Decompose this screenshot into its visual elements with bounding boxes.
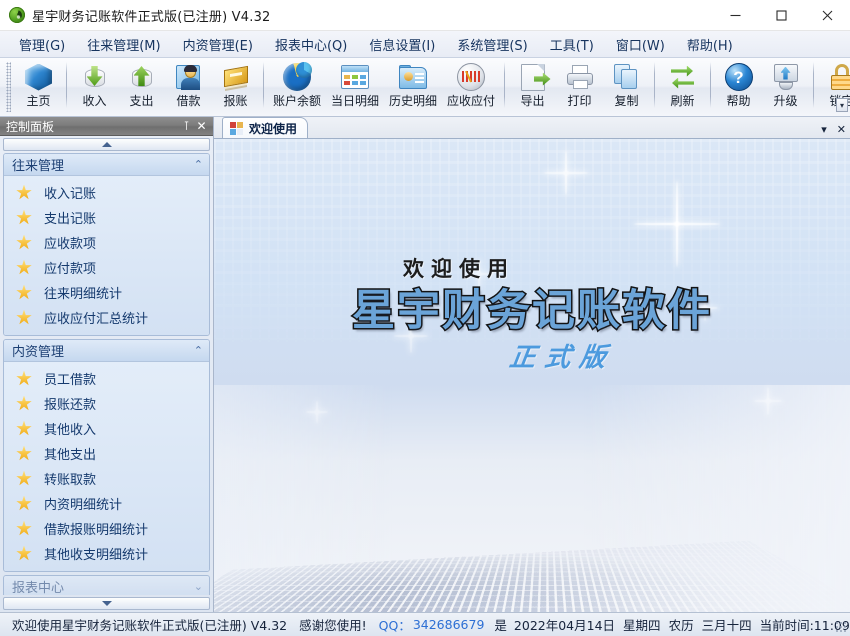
toolbar-group-refresh: 刷新	[659, 58, 706, 114]
toolbar-separator	[66, 62, 67, 108]
toolbar-group-help: ? 帮助 升级	[715, 58, 809, 114]
sidebar-item-label: 其他收支明细统计	[44, 544, 148, 563]
control-panel-title: 控制面板	[6, 118, 179, 135]
star-icon	[16, 421, 32, 437]
app-logo-icon	[9, 7, 25, 23]
sidebar-item-reimburse-repay[interactable]: 报账还款	[4, 391, 209, 416]
home-cube-icon	[23, 61, 55, 93]
status-weekday-text: 星期四	[619, 615, 665, 634]
star-icon	[16, 235, 32, 251]
sidebar-group-body: 员工借款 报账还款 其他收入 其他支出	[4, 362, 209, 571]
sidebar-group-title: 报表中心	[12, 577, 194, 595]
pin-icon[interactable]: ⊺	[179, 120, 194, 132]
toolbar-receivable-payable-label: 应收应付	[447, 94, 495, 109]
sidebar-item-label: 收入记账	[44, 183, 96, 202]
status-bar: 欢迎使用星宇财务记账软件正式版(已注册) V4.32 感谢您使用! QQ： 34…	[0, 612, 850, 636]
sidebar-item-label: 其他收入	[44, 419, 96, 438]
chevron-down-icon[interactable]: ⌄	[194, 580, 203, 593]
star-icon	[16, 546, 32, 562]
status-qq-label: QQ：	[373, 615, 411, 634]
window-controls	[712, 0, 850, 31]
welcome-tab-icon	[230, 122, 243, 135]
toolbar-reimburse-label: 报账	[223, 94, 247, 109]
printer-icon	[564, 61, 596, 93]
sidebar-item-other-income[interactable]: 其他收入	[4, 416, 209, 441]
application-window: 星宇财务记账软件正式版(已注册) V4.32 管理(G) 往来管理(M) 内资管…	[0, 0, 850, 636]
toolbar-group-home: 主页	[15, 58, 62, 114]
sidebar-item-transfer-withdraw[interactable]: 转账取款	[4, 466, 209, 491]
star-icon	[16, 285, 32, 301]
menu-tools[interactable]: 工具(T)	[541, 32, 603, 57]
star-icon	[16, 185, 32, 201]
sidebar-scroll-up[interactable]	[3, 138, 210, 151]
tab-close-icon[interactable]: ✕	[837, 124, 846, 135]
copy-icon	[611, 61, 643, 93]
gauge-icon	[455, 61, 487, 93]
sidebar-group-transactions: 往来管理 ⌃ 收入记账 支出记账	[3, 153, 210, 336]
toolbar-upgrade[interactable]: 升级	[762, 58, 809, 113]
toolbar: 主页 收入 支出 借款	[0, 58, 850, 117]
tab-strip-controls: ▾ ✕	[821, 124, 846, 135]
toolbar-export[interactable]: 导出	[509, 58, 556, 113]
toolbar-separator	[710, 62, 711, 108]
toolbar-history-detail-label: 历史明细	[389, 94, 437, 109]
star-icon	[16, 310, 32, 326]
sidebar-group-header-report-center[interactable]: 报表中心 ⌄	[4, 576, 209, 595]
menu-internal-funds[interactable]: 内资管理(E)	[174, 32, 262, 57]
toolbar-separator	[504, 62, 505, 108]
toolbar-copy[interactable]: 复制	[603, 58, 650, 113]
close-button[interactable]	[804, 0, 850, 31]
toolbar-income-label: 收入	[82, 94, 106, 109]
tab-welcome[interactable]: 欢迎使用	[222, 117, 308, 138]
window-grid-icon	[339, 61, 371, 93]
status-welcome-text: 欢迎使用星宇财务记账软件正式版(已注册) V4.32	[6, 615, 293, 634]
sidebar-group-internal-funds: 内资管理 ⌃ 员工借款 报账还款	[3, 339, 210, 572]
sidebar-item-label: 内资明细统计	[44, 494, 122, 513]
sidebar-item-label: 往来明细统计	[44, 283, 122, 302]
toolbar-copy-label: 复制	[614, 94, 638, 109]
menu-manage[interactable]: 管理(G)	[10, 32, 74, 57]
toolbar-today-detail-label: 当日明细	[331, 94, 379, 109]
sidebar-group-report-center: 报表中心 ⌄	[3, 575, 210, 595]
sidebar-item-other-inout-details[interactable]: 其他收支明细统计	[4, 541, 209, 566]
status-lunar-label: 农历	[665, 615, 698, 634]
star-icon	[16, 396, 32, 412]
sidebar-group-header-internal-funds[interactable]: 内资管理 ⌃	[4, 340, 209, 362]
star-icon	[16, 371, 32, 387]
toolbar-separator	[654, 62, 655, 108]
toolbar-income[interactable]: 收入	[71, 58, 118, 113]
ledger-book-icon	[220, 61, 252, 93]
income-down-arrow-icon	[79, 61, 111, 93]
sidebar-group-header-transactions[interactable]: 往来管理 ⌃	[4, 154, 209, 176]
star-icon	[16, 446, 32, 462]
sidebar-item-other-expense[interactable]: 其他支出	[4, 441, 209, 466]
tab-strip: 欢迎使用 ▾ ✕	[214, 117, 850, 139]
sidebar-item-receivables[interactable]: 应收款项	[4, 230, 209, 255]
toolbar-help-label: 帮助	[726, 94, 750, 109]
help-question-icon: ?	[723, 61, 755, 93]
minimize-button[interactable]	[712, 0, 758, 31]
menu-info-settings[interactable]: 信息设置(I)	[360, 32, 444, 57]
toolbar-account-balance-label: 账户余额	[273, 94, 321, 109]
maximize-button[interactable]	[758, 0, 804, 31]
body-container: 控制面板 ⊺ ✕ 往来管理 ⌃ 收入记账	[0, 117, 850, 612]
number-wall-backdrop	[214, 540, 850, 612]
status-qq-number[interactable]: 342686679	[411, 617, 491, 632]
toolbar-group-output: 导出 打印 复制	[509, 58, 650, 114]
toolbar-reimburse[interactable]: 报账	[212, 58, 259, 113]
chevron-up-icon[interactable]: ⌃	[194, 158, 203, 171]
toolbar-expense-label: 支出	[129, 94, 153, 109]
sidebar-item-label: 其他支出	[44, 444, 96, 463]
toolbar-export-label: 导出	[520, 94, 544, 109]
toolbar-separator	[263, 62, 264, 108]
toolbar-help[interactable]: ? 帮助	[715, 58, 762, 113]
chevron-up-icon[interactable]: ⌃	[194, 344, 203, 357]
export-document-icon	[517, 61, 549, 93]
toolbar-history-detail[interactable]: 历史明细	[384, 58, 442, 113]
menu-transactions[interactable]: 往来管理(M)	[78, 32, 169, 57]
star-icon	[16, 260, 32, 276]
toolbar-expense[interactable]: 支出	[118, 58, 165, 113]
sidebar-group-title: 内资管理	[12, 341, 194, 360]
toolbar-group-entry: 收入 支出 借款 报账	[71, 58, 259, 114]
digital-grid-backdrop	[214, 139, 850, 413]
sidebar-item-receivable-payable-summary[interactable]: 应收应付汇总统计	[4, 305, 209, 330]
pie-chart-icon	[281, 61, 313, 93]
star-icon	[16, 496, 32, 512]
control-panel-sidebar: 控制面板 ⊺ ✕ 往来管理 ⌃ 收入记账	[0, 117, 214, 612]
refresh-icon	[667, 61, 699, 93]
folder-contact-icon	[397, 61, 429, 93]
toolbar-receivable-payable[interactable]: 应收应付	[442, 58, 500, 113]
sidebar-item-expense-entry[interactable]: 支出记账	[4, 205, 209, 230]
toolbar-account-balance[interactable]: 账户余额	[268, 58, 326, 113]
menu-bar: 管理(G) 往来管理(M) 内资管理(E) 报表中心(Q) 信息设置(I) 系统…	[0, 31, 850, 58]
toolbar-print[interactable]: 打印	[556, 58, 603, 113]
toolbar-print-label: 打印	[567, 94, 591, 109]
sidebar-scroll-down[interactable]	[3, 597, 210, 610]
status-thanks-text: 感谢您使用!	[293, 615, 373, 634]
sidebar-item-loan-reimburse-details[interactable]: 借款报账明细统计	[4, 516, 209, 541]
upgrade-icon	[770, 61, 802, 93]
sidebar-item-label: 支出记账	[44, 208, 96, 227]
toolbar-home-label: 主页	[26, 94, 50, 109]
control-panel-header: 控制面板 ⊺ ✕	[0, 117, 213, 136]
status-lunar-text: 三月十四	[698, 615, 756, 634]
sidebar-item-label: 借款报账明细统计	[44, 519, 148, 538]
welcome-splash: 欢迎使用 星宇财务记账软件 正式版	[214, 139, 850, 612]
menu-system[interactable]: 系统管理(S)	[448, 32, 536, 57]
sidebar-item-label: 应收应付汇总统计	[44, 308, 148, 327]
toolbar-refresh[interactable]: 刷新	[659, 58, 706, 113]
sidebar-item-internal-fund-details[interactable]: 内资明细统计	[4, 491, 209, 516]
toolbar-home[interactable]: 主页	[15, 58, 62, 113]
toolbar-group-reports: 账户余额 当日明细 历史明细	[268, 58, 500, 114]
toolbar-overflow-button[interactable]: ▾	[836, 98, 848, 112]
star-icon	[16, 471, 32, 487]
lock-icon	[826, 61, 850, 93]
resize-grip[interactable]	[835, 621, 847, 633]
sidebar-groups: 往来管理 ⌃ 收入记账 支出记账	[0, 153, 213, 595]
sidebar-item-payables[interactable]: 应付款项	[4, 255, 209, 280]
tab-label: 欢迎使用	[249, 120, 297, 137]
expense-up-arrow-icon	[126, 61, 158, 93]
tab-list-dropdown-icon[interactable]: ▾	[821, 124, 827, 135]
sidebar-group-body: 收入记账 支出记账 应收款项 应付款项	[4, 176, 209, 335]
toolbar-refresh-label: 刷新	[670, 94, 694, 109]
toolbar-separator	[813, 62, 814, 108]
toolbar-loan-label: 借款	[176, 94, 200, 109]
sidebar-item-label: 应付款项	[44, 258, 96, 277]
sidebar-item-label: 转账取款	[44, 469, 96, 488]
close-icon[interactable]: ✕	[194, 120, 209, 132]
title-bar: 星宇财务记账软件正式版(已注册) V4.32	[0, 0, 850, 31]
menu-window[interactable]: 窗口(W)	[607, 32, 674, 57]
toolbar-grip[interactable]	[6, 62, 11, 112]
toolbar-upgrade-label: 升级	[773, 94, 797, 109]
window-title: 星宇财务记账软件正式版(已注册) V4.32	[32, 6, 271, 25]
menu-report-center[interactable]: 报表中心(Q)	[266, 32, 356, 57]
sidebar-group-title: 往来管理	[12, 155, 194, 174]
sidebar-item-label: 员工借款	[44, 369, 96, 388]
sidebar-item-label: 应收款项	[44, 233, 96, 252]
toolbar-loan[interactable]: 借款	[165, 58, 212, 113]
status-date-prefix: 是	[490, 615, 510, 634]
main-content-area: 欢迎使用 ▾ ✕ 欢迎使用 星宇财	[214, 117, 850, 612]
sidebar-item-transaction-details[interactable]: 往来明细统计	[4, 280, 209, 305]
sidebar-item-employee-loan[interactable]: 员工借款	[4, 366, 209, 391]
status-date-text: 2022年04月14日	[510, 615, 619, 634]
menu-help[interactable]: 帮助(H)	[678, 32, 742, 57]
star-icon	[16, 210, 32, 226]
toolbar-today-detail[interactable]: 当日明细	[326, 58, 384, 113]
star-icon	[16, 521, 32, 537]
sidebar-item-income-entry[interactable]: 收入记账	[4, 180, 209, 205]
sidebar-item-label: 报账还款	[44, 394, 96, 413]
person-card-icon	[173, 61, 205, 93]
